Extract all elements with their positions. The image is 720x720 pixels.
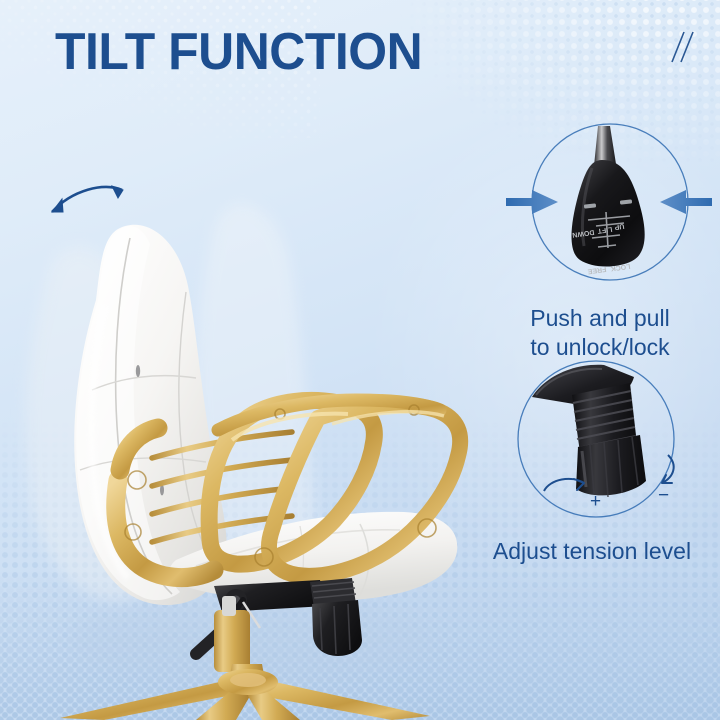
detail-lever-caption: Push and pull to unlock/lock — [480, 304, 720, 362]
detail-lever: LOCK FREE UP LIFT DOWN — [480, 120, 720, 362]
chair-seat — [169, 512, 457, 601]
lumbar-support-bars — [152, 432, 292, 542]
detail-tension-caption-line1: Adjust tension level — [472, 537, 712, 566]
svg-text:FREE: FREE — [587, 265, 607, 275]
tilt-lever-icon: LOCK FREE UP LIFT DOWN — [480, 120, 720, 300]
tilt-arc-arrow-icon — [52, 186, 123, 212]
double-slash-icon — [668, 30, 700, 64]
halftone-texture-bottom-dense — [0, 570, 720, 720]
tension-knob-hardware — [310, 578, 362, 656]
infographic-canvas: TILT FUNCTION — [0, 0, 720, 720]
tension-knob-icon: + − — [472, 355, 720, 535]
plus-label: + — [590, 491, 601, 512]
detail-tension: + − Adjust tension level — [472, 355, 712, 566]
armrest-frame — [116, 400, 460, 578]
arrow-left-icon — [506, 190, 558, 214]
detail-tension-caption: Adjust tension level — [472, 537, 712, 566]
minus-label: − — [658, 485, 669, 506]
chair-base-mechanism — [60, 578, 430, 720]
arrow-right-icon — [660, 190, 712, 214]
backrest-ghost-positions — [26, 204, 314, 601]
detail-lever-caption-line1: Push and pull — [480, 304, 720, 333]
tilt-lever-hardware — [196, 600, 260, 654]
page-title: TILT FUNCTION — [55, 22, 422, 82]
chair-backrest — [74, 225, 226, 605]
